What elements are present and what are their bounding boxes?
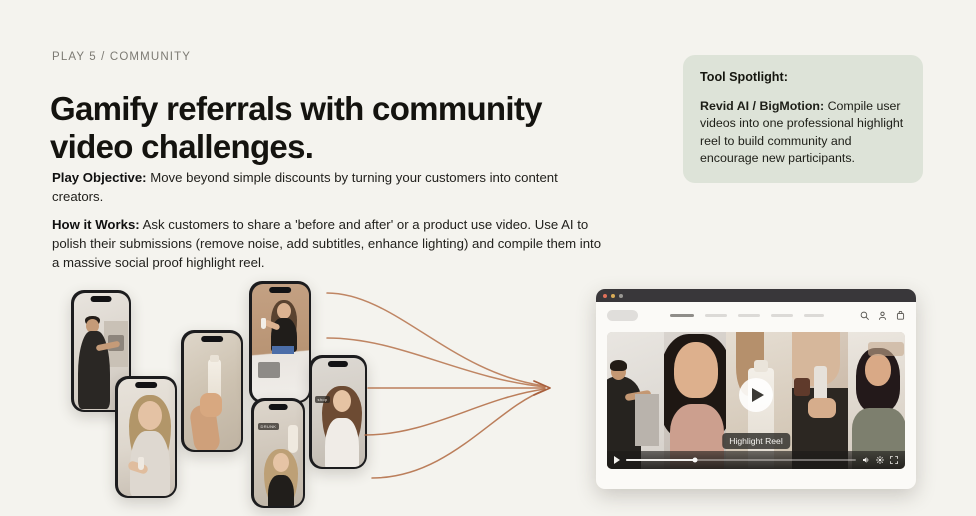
phone-notch [91, 296, 112, 302]
settings-gear-icon[interactable] [876, 456, 884, 464]
control-play-icon[interactable] [614, 456, 620, 464]
figure-head [138, 401, 162, 430]
phone-product-hand [181, 330, 243, 452]
tool-spotlight-body: Revid AI / BigMotion: Compile user video… [700, 98, 906, 167]
progress-knob[interactable] [693, 458, 698, 463]
phone-notch [201, 336, 223, 342]
clip-woman-presenting [848, 332, 905, 469]
volume-icon[interactable] [862, 456, 870, 464]
nav-link-5[interactable] [804, 314, 824, 318]
product-bottle [261, 318, 266, 329]
video-controls [607, 451, 905, 469]
phone-brand-tag: shop [315, 396, 331, 403]
nav-link-2[interactable] [705, 314, 727, 318]
browser-mockup: Highlight Reel [596, 289, 916, 489]
figure-body [78, 331, 110, 409]
nav-link-3[interactable] [738, 314, 760, 318]
figure-head [273, 453, 289, 472]
hand [200, 393, 222, 417]
figure-body [268, 475, 294, 506]
traffic-light-close-icon[interactable] [603, 294, 607, 298]
highlight-reel-label: Highlight Reel [722, 433, 790, 449]
nav-links [670, 314, 824, 318]
how-it-works-paragraph: How it Works: Ask customers to share a '… [52, 216, 604, 272]
phone-notch [328, 361, 348, 367]
phone-screen [118, 379, 175, 496]
tool-spotlight-card: Tool Spotlight: Revid AI / BigMotion: Co… [683, 55, 923, 183]
bottle-cap [210, 355, 219, 362]
browser-titlebar [596, 289, 916, 302]
play-icon [752, 388, 764, 402]
phone-notch [269, 287, 291, 293]
clip-woman-talking [664, 332, 727, 469]
search-icon[interactable] [860, 311, 869, 320]
play-kicker: PLAY 5 / COMMUNITY [52, 51, 191, 63]
phone-creator-4: DRUNK [251, 398, 305, 508]
laptop [258, 362, 280, 378]
traffic-light-maximize-icon[interactable] [619, 294, 623, 298]
denim [272, 346, 294, 354]
figure-head [333, 390, 351, 412]
phone-screen [184, 333, 241, 450]
tool-spotlight-title: Tool Spotlight: [700, 70, 906, 84]
nav-link-4[interactable] [771, 314, 793, 318]
figure-head [277, 303, 291, 319]
nav-link-1[interactable] [670, 314, 694, 318]
play-button[interactable] [739, 378, 773, 412]
progress-fill [626, 459, 695, 461]
phone-notch [269, 404, 288, 410]
figure-body [325, 418, 359, 467]
bag-icon[interactable] [896, 311, 905, 320]
product-bottle [288, 425, 298, 453]
site-logo[interactable] [607, 310, 638, 321]
product-bottle [138, 457, 144, 470]
how-it-works-label: How it Works: [52, 217, 140, 232]
traffic-light-minimize-icon[interactable] [611, 294, 615, 298]
clip-man-pointing [607, 332, 664, 469]
progress-bar[interactable] [626, 459, 856, 461]
play-objective-paragraph: Play Objective: Move beyond simple disco… [52, 169, 604, 206]
phone-screen: DRUNK [254, 401, 303, 506]
phone-brand-tag: DRUNK [258, 423, 280, 430]
video-player[interactable]: Highlight Reel [607, 332, 905, 469]
slide-canvas: PLAY 5 / COMMUNITY Gamify referrals with… [0, 0, 976, 516]
control-icons [862, 456, 898, 464]
nav-icons [860, 311, 905, 320]
site-navbar [596, 302, 916, 329]
phone-notch [135, 382, 157, 388]
clip-hand-product [792, 332, 849, 469]
account-icon[interactable] [878, 311, 887, 320]
tool-spotlight-tool-name: Revid AI / BigMotion: [700, 99, 824, 113]
page-title: Gamify referrals with community video ch… [50, 90, 630, 167]
phone-creator-2 [115, 376, 177, 498]
play-objective-label: Play Objective: [52, 170, 147, 185]
fullscreen-icon[interactable] [890, 456, 898, 464]
